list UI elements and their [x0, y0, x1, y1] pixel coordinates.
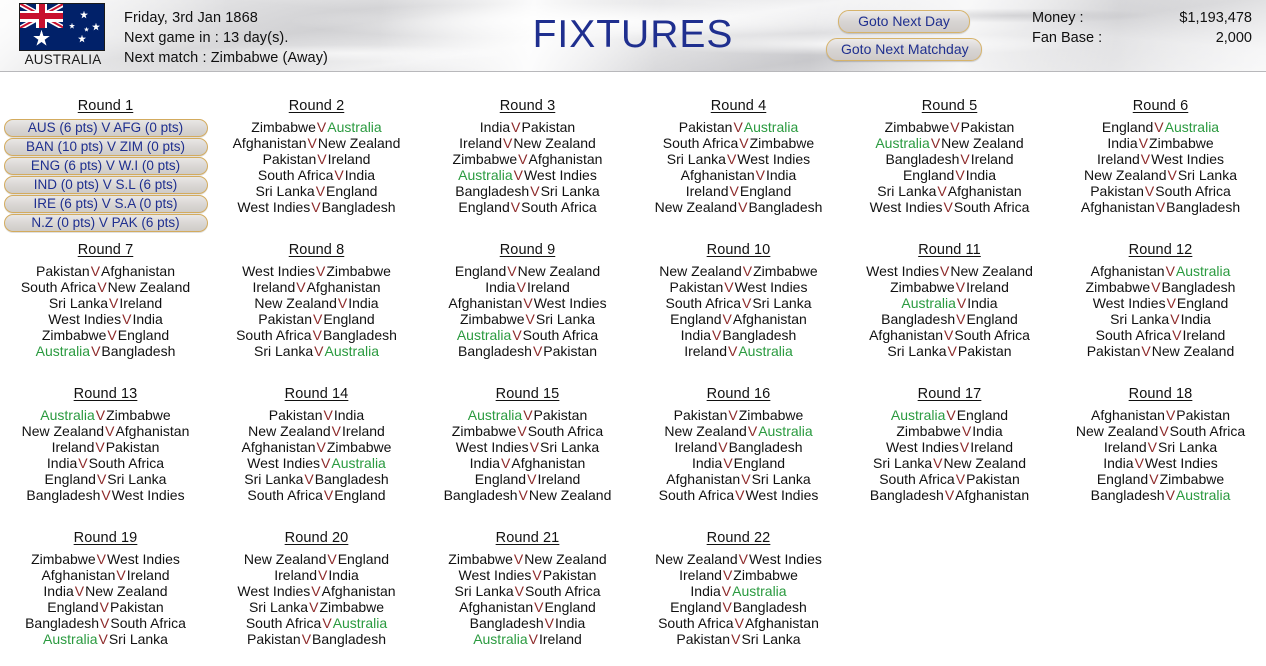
fixture-list: ZimbabweVNew ZealandWest IndiesVPakistan…	[422, 551, 633, 647]
versus-separator: V	[955, 471, 966, 487]
versus-separator: V	[77, 455, 88, 471]
versus-separator: V	[949, 119, 960, 135]
fixture-row[interactable]: EnglandVIreland	[422, 471, 633, 487]
result-list: AUS (6 pts) V AFG (0 pts)BAN (10 pts) V …	[0, 119, 211, 232]
fixture-row[interactable]: Sri LankaVEngland	[211, 183, 422, 199]
fixture-row[interactable]: IrelandVEngland	[633, 183, 844, 199]
fixture-row[interactable]: EnglandVNew Zealand	[422, 263, 633, 279]
versus-separator: V	[1153, 119, 1164, 135]
round-block: Round 1AUS (6 pts) V AFG (0 pts)BAN (10 …	[0, 98, 211, 242]
away-team: Sri Lanka	[109, 631, 168, 647]
away-team: Pakistan	[966, 471, 1020, 487]
fixture-list: PakistanVAfghanistanSouth AfricaVNew Zea…	[0, 263, 211, 359]
round-block: Round 9EnglandVNew ZealandIndiaVIrelandA…	[422, 242, 633, 386]
fixture-row[interactable]: EnglandVBangladesh	[633, 599, 844, 615]
away-team: Australia	[738, 343, 792, 359]
round-block: Round 18AfghanistanVPakistanNew ZealandV…	[1055, 386, 1266, 530]
home-team: India	[692, 455, 722, 471]
fixture-row[interactable]: New ZealandVWest Indies	[633, 551, 844, 567]
versus-separator: V	[741, 295, 752, 311]
home-team: Ireland	[1097, 151, 1140, 167]
fixture-row[interactable]: PakistanVIndia	[211, 407, 422, 423]
fixture-row[interactable]: South AfricaVZimbabwe	[633, 135, 844, 151]
fixture-row[interactable]: New ZealandVIndia	[211, 295, 422, 311]
home-team: Ireland	[679, 567, 722, 583]
home-team: England	[903, 167, 954, 183]
fixture-row[interactable]: Sri LankaVIndia	[1055, 311, 1266, 327]
away-team: England	[334, 487, 385, 503]
versus-separator: V	[510, 119, 521, 135]
versus-separator: V	[525, 311, 536, 327]
fixture-row[interactable]: ZimbabweVIndia	[844, 423, 1055, 439]
away-team: New Zealand	[1152, 343, 1235, 359]
fixture-row[interactable]: South AfricaVIreland	[1055, 327, 1266, 343]
versus-separator: V	[1169, 311, 1180, 327]
away-team: West Indies	[737, 151, 810, 167]
home-team: Pakistan	[679, 119, 733, 135]
versus-separator: V	[316, 439, 327, 455]
round-title: Round 1	[0, 98, 211, 114]
match-result-button[interactable]: BAN (10 pts) V ZIM (0 pts)	[4, 138, 208, 156]
money-value: $1,193,478	[1160, 8, 1252, 28]
round-block: Round 8West IndiesVZimbabweIrelandVAfgha…	[211, 242, 422, 386]
fixture-row[interactable]: South AfricaVIndia	[211, 167, 422, 183]
fixture-row[interactable]: AustraliaVPakistan	[422, 407, 633, 423]
fixture-row[interactable]: Sri LankaVIreland	[0, 295, 211, 311]
fixture-row[interactable]: West IndiesVSouth Africa	[844, 199, 1055, 215]
fixture-row[interactable]: EnglandVIndia	[844, 167, 1055, 183]
away-team: West Indies	[749, 551, 822, 567]
fixture-row[interactable]: IrelandVAfghanistan	[211, 279, 422, 295]
away-team: Afghanistan	[511, 455, 585, 471]
away-team: South Africa	[89, 455, 165, 471]
fixture-row[interactable]: Sri LankaVSouth Africa	[422, 583, 633, 599]
fixture-row[interactable]: ZimbabweVWest Indies	[0, 551, 211, 567]
fixture-row[interactable]: EnglandVAfghanistan	[633, 311, 844, 327]
fixture-row[interactable]: Sri LankaVWest Indies	[633, 151, 844, 167]
round-block: Round 21ZimbabweVNew ZealandWest IndiesV…	[422, 530, 633, 666]
home-team: Pakistan	[263, 151, 317, 167]
versus-separator: V	[312, 327, 323, 343]
fixture-row[interactable]: EnglandVAustralia	[1055, 119, 1266, 135]
fixture-row[interactable]: New ZealandVBangladesh	[633, 199, 844, 215]
fixture-row[interactable]: IndiaVPakistan	[422, 119, 633, 135]
away-team: West Indies	[745, 487, 818, 503]
versus-separator: V	[722, 567, 733, 583]
fixture-row[interactable]: BangladeshVSouth Africa	[0, 615, 211, 631]
away-team: Afghanistan	[733, 311, 807, 327]
fixture-row[interactable]: BangladeshVAfghanistan	[844, 487, 1055, 503]
away-team: South Africa	[1155, 183, 1231, 199]
versus-separator: V	[722, 599, 733, 615]
away-team: New Zealand	[85, 583, 168, 599]
fixture-row[interactable]: BangladeshVAustralia	[1055, 487, 1266, 503]
away-team: New Zealand	[108, 279, 191, 295]
fixture-row[interactable]: IndiaVBangladesh	[633, 327, 844, 343]
fixture-row[interactable]: AustraliaVWest Indies	[422, 167, 633, 183]
app-header: AUSTRALIA Friday, 3rd Jan 1868 Next game…	[0, 0, 1266, 72]
fixture-row[interactable]: Sri LankaVPakistan	[844, 343, 1055, 359]
round-title: Round 19	[0, 530, 211, 546]
versus-separator: V	[74, 583, 85, 599]
fixture-row[interactable]: AfghanistanVSouth Africa	[844, 327, 1055, 343]
versus-separator: V	[738, 135, 749, 151]
away-team: South Africa	[954, 327, 1030, 343]
versus-separator: V	[331, 423, 342, 439]
fixture-row[interactable]: PakistanVAfghanistan	[0, 263, 211, 279]
away-team: India	[132, 311, 162, 327]
fixture-row[interactable]: West IndiesVZimbabwe	[211, 263, 422, 279]
fixture-row[interactable]: Sri LankaVAustralia	[211, 343, 422, 359]
fixture-row[interactable]: AustraliaVIndia	[844, 295, 1055, 311]
versus-separator: V	[500, 455, 511, 471]
home-team: Pakistan	[258, 311, 312, 327]
versus-separator: V	[310, 583, 321, 599]
fixture-row[interactable]: AustraliaVZimbabwe	[0, 407, 211, 423]
away-team: New Zealand	[513, 135, 596, 151]
versus-separator: V	[711, 327, 722, 343]
fixture-row[interactable]: New ZealandVSouth Africa	[1055, 423, 1266, 439]
versus-separator: V	[90, 343, 101, 359]
fixture-row[interactable]: ZimbabweVAustralia	[211, 119, 422, 135]
fixture-list: ZimbabweVPakistanAustraliaVNew ZealandBa…	[844, 119, 1055, 215]
away-team: Pakistan	[543, 567, 597, 583]
fixture-row[interactable]: West IndiesVAustralia	[211, 455, 422, 471]
versus-separator: V	[959, 151, 970, 167]
fixture-row[interactable]: IrelandVPakistan	[0, 439, 211, 455]
fixture-row[interactable]: IrelandVSri Lanka	[1055, 439, 1266, 455]
fixture-row[interactable]: West IndiesVBangladesh	[211, 199, 422, 215]
home-team: West Indies	[48, 311, 121, 327]
fixture-row[interactable]: West IndiesVIndia	[0, 311, 211, 327]
fixture-row[interactable]: PakistanVWest Indies	[633, 279, 844, 295]
fixture-row[interactable]: ZimbabweVBangladesh	[1055, 279, 1266, 295]
home-team: India	[43, 583, 73, 599]
match-result-button[interactable]: IRE (6 pts) V S.A (0 pts)	[4, 195, 208, 213]
round-block: Round 20New ZealandVEnglandIrelandVIndia…	[211, 530, 422, 666]
fixture-row[interactable]: AfghanistanVPakistan	[1055, 407, 1266, 423]
home-team: West Indies	[247, 455, 320, 471]
home-team: England	[455, 263, 506, 279]
versus-separator: V	[932, 455, 943, 471]
home-team: South Africa	[246, 615, 322, 631]
current-date: Friday, 3rd Jan 1868	[124, 8, 328, 28]
fixture-row[interactable]: New ZealandVZimbabwe	[633, 263, 844, 279]
match-result-button[interactable]: AUS (6 pts) V AFG (0 pts)	[4, 119, 208, 137]
home-team: New Zealand	[254, 295, 337, 311]
away-team: Ireland	[527, 279, 570, 295]
fixture-row[interactable]: South AfricaVAustralia	[211, 615, 422, 631]
versus-separator: V	[1140, 151, 1151, 167]
away-team: Australia	[1165, 119, 1219, 135]
fixture-row[interactable]: EnglandVSri Lanka	[0, 471, 211, 487]
fixture-row[interactable]: ZimbabweVPakistan	[844, 119, 1055, 135]
versus-separator: V	[717, 439, 728, 455]
fixture-row[interactable]: ZimbabweVSouth Africa	[422, 423, 633, 439]
fixture-row[interactable]: ZimbabweVAfghanistan	[422, 151, 633, 167]
versus-separator: V	[954, 167, 965, 183]
home-team: England	[45, 471, 96, 487]
versus-separator: V	[337, 295, 348, 311]
fixture-row[interactable]: New ZealandVSri Lanka	[1055, 167, 1266, 183]
fixture-row[interactable]: AfghanistanVIndia	[633, 167, 844, 183]
fixture-row[interactable]: AustraliaVBangladesh	[0, 343, 211, 359]
home-team: Zimbabwe	[1086, 279, 1151, 295]
fixture-row[interactable]: South AfricaVNew Zealand	[0, 279, 211, 295]
home-team: Bangladesh	[455, 183, 529, 199]
fixture-row[interactable]: PakistanVEngland	[211, 311, 422, 327]
home-team: India	[47, 455, 77, 471]
fixture-row[interactable]: BangladeshVSri Lanka	[422, 183, 633, 199]
fixture-row[interactable]: AfghanistanVBangladesh	[1055, 199, 1266, 215]
versus-separator: V	[326, 551, 337, 567]
fixture-row[interactable]: AfghanistanVEngland	[422, 599, 633, 615]
home-team: Pakistan	[670, 279, 724, 295]
fixture-row[interactable]: EnglandVPakistan	[0, 599, 211, 615]
fixture-row[interactable]: AfghanistanVNew Zealand	[211, 135, 422, 151]
fixture-row[interactable]: IrelandVIndia	[211, 567, 422, 583]
home-team: West Indies	[870, 199, 943, 215]
fixture-row[interactable]: New ZealandVEngland	[211, 551, 422, 567]
home-team: Sri Lanka	[667, 151, 726, 167]
versus-separator: V	[936, 183, 947, 199]
round-block: Round 10New ZealandVZimbabwePakistanVWes…	[633, 242, 844, 386]
fixture-row[interactable]: IndiaVAfghanistan	[422, 455, 633, 471]
versus-separator: V	[528, 631, 539, 647]
home-team: Afghanistan	[41, 567, 115, 583]
fixture-row[interactable]: West IndiesVSri Lanka	[422, 439, 633, 455]
away-team: West Indies	[107, 551, 180, 567]
versus-separator: V	[722, 311, 733, 327]
home-team: West Indies	[242, 263, 315, 279]
fixture-row[interactable]: West IndiesVNew Zealand	[844, 263, 1055, 279]
versus-separator: V	[956, 295, 967, 311]
home-team: India	[470, 455, 500, 471]
home-team: Australia	[473, 631, 527, 647]
fixture-row[interactable]: IrelandVAustralia	[633, 343, 844, 359]
fixture-row[interactable]: IndiaVSouth Africa	[0, 455, 211, 471]
versus-separator: V	[99, 615, 110, 631]
fixture-row[interactable]: PakistanVIreland	[211, 151, 422, 167]
fixture-row[interactable]: ZimbabweVNew Zealand	[422, 551, 633, 567]
fixture-row[interactable]: IndiaVWest Indies	[1055, 455, 1266, 471]
fixture-row[interactable]: BangladeshVWest Indies	[0, 487, 211, 503]
fixture-row[interactable]: AfghanistanVWest Indies	[422, 295, 633, 311]
away-team: Zimbabwe	[326, 263, 391, 279]
fixture-row[interactable]: Sri LankaVZimbabwe	[211, 599, 422, 615]
round-title: Round 18	[1055, 386, 1266, 402]
fixture-row[interactable]: AfghanistanVZimbabwe	[211, 439, 422, 455]
away-team: Ireland	[328, 151, 371, 167]
away-team: Australia	[327, 119, 381, 135]
fixture-row[interactable]: AustraliaVSri Lanka	[0, 631, 211, 647]
fixture-row[interactable]: AustraliaVNew Zealand	[844, 135, 1055, 151]
round-title: Round 7	[0, 242, 211, 258]
home-team: Australia	[458, 167, 512, 183]
versus-separator: V	[1150, 279, 1161, 295]
versus-separator: V	[312, 311, 323, 327]
fixture-row[interactable]: South AfricaVWest Indies	[633, 487, 844, 503]
versus-separator: V	[737, 199, 748, 215]
fixture-row[interactable]: IndiaVIreland	[422, 279, 633, 295]
fixture-row[interactable]: IrelandVNew Zealand	[422, 135, 633, 151]
fixture-list: AustraliaVEnglandZimbabweVIndiaWest Indi…	[844, 407, 1055, 503]
fixture-row[interactable]: EnglandVZimbabwe	[1055, 471, 1266, 487]
fixture-row[interactable]: PakistanVSri Lanka	[633, 631, 844, 647]
away-team: England	[966, 311, 1017, 327]
versus-separator: V	[1165, 263, 1176, 279]
versus-separator: V	[729, 183, 740, 199]
fixture-row[interactable]: PakistanVBangladesh	[211, 631, 422, 647]
fixture-row[interactable]: South AfricaVSri Lanka	[633, 295, 844, 311]
round-title: Round 12	[1055, 242, 1266, 258]
fixture-row[interactable]: West IndiesVAfghanistan	[211, 583, 422, 599]
fixture-row[interactable]: ZimbabweVSri Lanka	[422, 311, 633, 327]
southern-cross-star-icon	[80, 11, 88, 19]
versus-separator: V	[316, 119, 327, 135]
home-team: India	[1103, 455, 1133, 471]
away-team: Australia	[732, 583, 786, 599]
fixture-row[interactable]: BangladeshVIndia	[422, 615, 633, 631]
home-team: England	[458, 199, 509, 215]
fixture-row[interactable]: West IndiesVIreland	[844, 439, 1055, 455]
away-team: Afghanistan	[745, 615, 819, 631]
away-team: Bangladesh	[748, 199, 822, 215]
home-team: Bangladesh	[25, 615, 99, 631]
goto-next-matchday-button[interactable]: Goto Next Matchday	[826, 38, 982, 61]
away-team: Sri Lanka	[1158, 439, 1217, 455]
home-team: Bangladesh	[885, 151, 959, 167]
fixture-row[interactable]: West IndiesVPakistan	[422, 567, 633, 583]
away-team: Afghanistan	[115, 423, 189, 439]
fixture-row[interactable]: IrelandVBangladesh	[633, 439, 844, 455]
away-team: Zimbabwe	[1149, 135, 1214, 151]
home-team: South Africa	[236, 327, 312, 343]
versus-separator: V	[506, 263, 517, 279]
round-block: Round 5ZimbabweVPakistanAustraliaVNew Ze…	[844, 98, 1055, 242]
southern-cross-star-icon	[92, 23, 100, 31]
home-team: Zimbabwe	[460, 311, 525, 327]
fixture-row[interactable]: ZimbabweVIreland	[844, 279, 1055, 295]
fixture-row[interactable]: IndiaVNew Zealand	[0, 583, 211, 599]
fixture-row[interactable]: BangladeshVNew Zealand	[422, 487, 633, 503]
fixture-row[interactable]: AfghanistanVAustralia	[1055, 263, 1266, 279]
away-team: New Zealand	[950, 263, 1033, 279]
away-team: New Zealand	[524, 551, 607, 567]
versus-separator: V	[726, 151, 737, 167]
fixture-row[interactable]: New ZealandVIreland	[211, 423, 422, 439]
round-title: Round 21	[422, 530, 633, 546]
home-team: Zimbabwe	[885, 119, 950, 135]
fixture-row[interactable]: IndiaVAustralia	[633, 583, 844, 599]
fixture-row[interactable]: Sri LankaVAfghanistan	[844, 183, 1055, 199]
fixture-row[interactable]: New ZealandVAustralia	[633, 423, 844, 439]
versus-separator: V	[321, 615, 332, 631]
stat-row-fanbase: Fan Base : 2,000	[1032, 28, 1252, 48]
versus-separator: V	[121, 311, 132, 327]
away-team: Sri Lanka	[752, 471, 811, 487]
away-team: South Africa	[521, 199, 597, 215]
versus-separator: V	[99, 599, 110, 615]
fixture-row[interactable]: EnglandVSouth Africa	[422, 199, 633, 215]
home-team: Ireland	[252, 279, 295, 295]
fixture-row[interactable]: IndiaVZimbabwe	[1055, 135, 1266, 151]
fixture-row[interactable]: South AfricaVPakistan	[844, 471, 1055, 487]
away-team: Australia	[758, 423, 812, 439]
fixture-row[interactable]: AustraliaVIreland	[422, 631, 633, 647]
fixture-row[interactable]: BangladeshVIreland	[844, 151, 1055, 167]
away-team: Australia	[1176, 263, 1230, 279]
fixture-row[interactable]: IndiaVEngland	[633, 455, 844, 471]
fixture-row[interactable]: South AfricaVBangladesh	[211, 327, 422, 343]
fixture-row[interactable]: ZimbabweVEngland	[0, 327, 211, 343]
goto-next-day-button[interactable]: Goto Next Day	[838, 10, 970, 33]
away-team: Bangladesh	[322, 199, 396, 215]
navigation-buttons: Goto Next Day Goto Next Matchday	[826, 10, 982, 66]
away-team: England	[740, 183, 791, 199]
fixture-row[interactable]: New ZealandVAfghanistan	[0, 423, 211, 439]
home-team: Afghanistan	[459, 599, 533, 615]
match-result-button[interactable]: IND (0 pts) V S.L (6 pts)	[4, 176, 208, 194]
fixture-row[interactable]: West IndiesVEngland	[1055, 295, 1266, 311]
fixture-row[interactable]: South AfricaVEngland	[211, 487, 422, 503]
fixture-list: AustraliaVPakistanZimbabweVSouth AfricaW…	[422, 407, 633, 503]
fixture-row[interactable]: PakistanVSouth Africa	[1055, 183, 1266, 199]
away-team: Zimbabwe	[739, 407, 804, 423]
away-team: New Zealand	[529, 487, 612, 503]
fixture-row[interactable]: PakistanVAustralia	[633, 119, 844, 135]
away-team: Zimbabwe	[753, 263, 818, 279]
versus-separator: V	[1165, 487, 1176, 503]
home-team: Australia	[468, 407, 522, 423]
versus-separator: V	[108, 295, 119, 311]
match-result-button[interactable]: N.Z (0 pts) V PAK (6 pts)	[4, 214, 208, 232]
fixture-row[interactable]: Sri LankaVNew Zealand	[844, 455, 1055, 471]
away-team: Pakistan	[106, 439, 160, 455]
money-label: Money :	[1032, 8, 1160, 28]
match-result-button[interactable]: ENG (6 pts) V W.I (0 pts)	[4, 157, 208, 175]
fixture-row[interactable]: IrelandVWest Indies	[1055, 151, 1266, 167]
versus-separator: V	[513, 551, 524, 567]
fixture-row[interactable]: BangladeshVPakistan	[422, 343, 633, 359]
away-team: Sri Lanka	[540, 439, 599, 455]
fixture-row[interactable]: AustraliaVSouth Africa	[422, 327, 633, 343]
fixture-row[interactable]: AfghanistanVSri Lanka	[633, 471, 844, 487]
away-team: Zimbabwe	[1160, 471, 1225, 487]
fixture-row[interactable]: IrelandVZimbabwe	[633, 567, 844, 583]
away-team: India	[348, 295, 378, 311]
southern-cross-star-icon	[69, 23, 75, 29]
fixture-row[interactable]: AfghanistanVIreland	[0, 567, 211, 583]
home-team: Pakistan	[36, 263, 90, 279]
away-team: Australia	[333, 615, 387, 631]
fixture-row[interactable]: AustraliaVEngland	[844, 407, 1055, 423]
away-team: South Africa	[110, 615, 186, 631]
home-team: Sri Lanka	[887, 343, 946, 359]
fixture-row[interactable]: PakistanVNew Zealand	[1055, 343, 1266, 359]
fixture-row[interactable]: PakistanVZimbabwe	[633, 407, 844, 423]
fixture-row[interactable]: BangladeshVEngland	[844, 311, 1055, 327]
versus-separator: V	[959, 439, 970, 455]
versus-separator: V	[1147, 439, 1158, 455]
fixture-row[interactable]: Sri LankaVBangladesh	[211, 471, 422, 487]
home-team: South Africa	[663, 135, 739, 151]
away-team: Bangladesh	[1161, 279, 1235, 295]
home-team: Pakistan	[674, 407, 728, 423]
round-block: Round 15AustraliaVPakistanZimbabweVSouth…	[422, 386, 633, 530]
fixture-row[interactable]: South AfricaVAfghanistan	[633, 615, 844, 631]
round-title: Round 8	[211, 242, 422, 258]
